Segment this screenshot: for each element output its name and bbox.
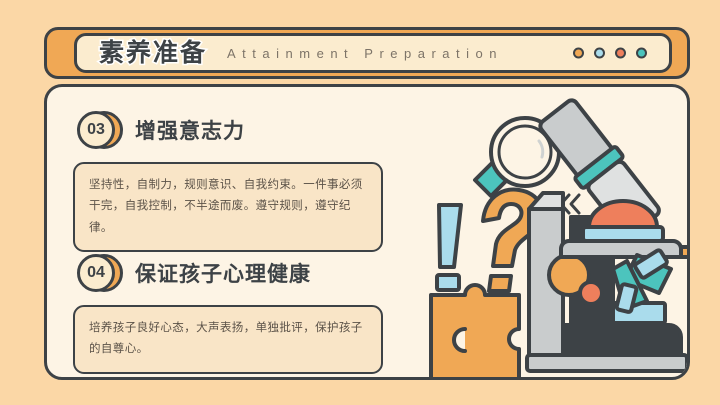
exclamation-mark-icon	[437, 205, 461, 290]
slide-page: 素养准备 Attainment Preparation 03 增强意志力 坚持性…	[0, 0, 720, 405]
microscope-illustration	[421, 97, 690, 377]
decorative-dots	[573, 48, 647, 59]
page-title-cn: 素养准备	[99, 41, 207, 66]
content-card: 03 增强意志力 坚持性，自制力，规则意识、自我约束。一件事必须干完，自我控制，…	[44, 84, 690, 380]
section-03-body: 坚持性，自制力，规则意识、自我约束。一件事必须干完，自我控制，不半途而废。遵守规…	[73, 162, 383, 252]
section-04: 04 保证孩子心理健康 培养孩子良好心态，大声表扬，单独批评，保护孩子的自尊心。	[73, 252, 383, 374]
puzzle-piece-icon	[431, 285, 519, 377]
header-inner-pill: 素养准备 Attainment Preparation	[74, 33, 672, 73]
section-03: 03 增强意志力 坚持性，自制力，规则意识、自我约束。一件事必须干完，自我控制，…	[73, 109, 383, 252]
dot-teal	[636, 48, 647, 59]
section-04-title: 保证孩子心理健康	[135, 258, 311, 288]
badge-04: 04	[73, 252, 121, 294]
dot-orange	[573, 48, 584, 59]
section-04-body: 培养孩子良好心态，大声表扬，单独批评，保护孩子的自尊心。	[73, 305, 383, 374]
page-title-en: Attainment Preparation	[227, 47, 503, 60]
dot-lightblue	[594, 48, 605, 59]
badge-03: 03	[73, 109, 121, 151]
section-04-heading: 04 保证孩子心理健康	[73, 252, 383, 294]
badge-number-04: 04	[77, 254, 115, 292]
section-03-title: 增强意志力	[135, 115, 245, 145]
badge-number-03: 03	[77, 111, 115, 149]
dot-salmon	[615, 48, 626, 59]
microscope-icon	[527, 97, 689, 371]
section-03-heading: 03 增强意志力	[73, 109, 383, 151]
